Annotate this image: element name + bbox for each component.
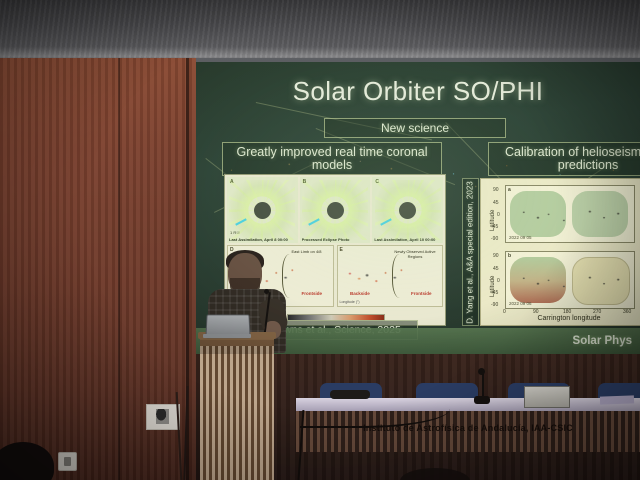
panel-id: a bbox=[508, 187, 511, 193]
active-region-spots bbox=[512, 264, 630, 298]
new-science-box: New science bbox=[324, 118, 506, 138]
table-laptop[interactable] bbox=[524, 386, 570, 408]
scale-bar-label: 1 R☉ bbox=[230, 230, 240, 235]
active-region-spots bbox=[512, 198, 630, 232]
right-citation-text: D. Yang et al., A&A special edition, 202… bbox=[466, 181, 475, 323]
podium-microphone-icon bbox=[264, 289, 269, 294]
panel-caption: Last Assimilation, April 10 00:00 bbox=[374, 237, 441, 242]
panel-id: B bbox=[303, 179, 307, 185]
magnetogram-panel: E Newly Observed Active Regions Backside… bbox=[337, 245, 444, 307]
right-heading-box: Calibration of helioseismology predictio… bbox=[488, 142, 640, 176]
panel-id: E bbox=[340, 247, 343, 253]
y-tick: 45 bbox=[493, 200, 499, 206]
frontside-label: Frontside bbox=[302, 291, 323, 296]
panel-caption: Last Assimilation, April 8 00:00 bbox=[229, 237, 296, 242]
right-citation: D. Yang et al., A&A special edition, 202… bbox=[462, 178, 479, 326]
microphone-icon bbox=[478, 368, 485, 375]
slide-title: Solar Orbiter SO/PHI bbox=[196, 76, 640, 107]
y-tick: 90 bbox=[493, 253, 499, 259]
y-tick: -90 bbox=[491, 302, 498, 308]
y-tick: 0 bbox=[497, 212, 500, 218]
x-axis-label: Longitude (°) bbox=[340, 300, 360, 304]
switch-rocker-icon bbox=[64, 457, 71, 466]
y-tick: 45 bbox=[493, 266, 499, 272]
wall-panel-seam bbox=[118, 58, 120, 480]
date-stamp: 2022 09 05 bbox=[509, 235, 532, 240]
backside-label: Backside bbox=[350, 291, 370, 296]
y-axis-label: Latitude bbox=[490, 210, 496, 231]
y-tick: 0 bbox=[497, 278, 500, 284]
ceiling bbox=[0, 0, 640, 60]
solar-disk-icon bbox=[399, 202, 416, 219]
eclipse-panel-row: A 1 R☉ Last Assimilation, April 8 00:00 … bbox=[227, 177, 443, 243]
solar-disk-icon bbox=[327, 202, 344, 219]
carrington-map-panel-b: b 2022 09 06 bbox=[505, 251, 635, 309]
eclipse-panel: B Processed Eclipse Photo bbox=[300, 177, 371, 243]
helioseismology-figure: a 2022 09 05 90 45 0 -45 -90 Latitude b … bbox=[480, 178, 640, 326]
wall-light-switch[interactable] bbox=[58, 452, 77, 471]
presenter-laptop-base[interactable] bbox=[203, 334, 251, 338]
conference-photo-scene: Solar Orbiter SO/PHI New science Greatly… bbox=[0, 0, 640, 480]
eclipse-panel: A 1 R☉ Last Assimilation, April 8 00:00 bbox=[227, 177, 298, 243]
carrington-map-panel-a: a 2022 09 05 bbox=[505, 185, 635, 243]
panel-id: C bbox=[375, 179, 379, 185]
left-heading-box: Greatly improved real time coronal model… bbox=[222, 142, 442, 176]
y-tick: 90 bbox=[493, 187, 499, 193]
microphone-base bbox=[474, 396, 490, 404]
solar-disk-icon bbox=[254, 202, 271, 219]
y-axis-label: Latitude bbox=[490, 276, 496, 297]
x-axis-label: Carrington longitude bbox=[481, 315, 640, 322]
slide-footer-right-text: Solar Phys bbox=[573, 335, 632, 347]
table-papers bbox=[600, 395, 634, 404]
panel-annotation: East Limb on 4/8 bbox=[285, 249, 329, 254]
limb-curve bbox=[392, 254, 407, 298]
y-tick: -90 bbox=[491, 236, 498, 242]
panel-id: b bbox=[508, 253, 511, 259]
sign-pictogram-icon bbox=[156, 409, 169, 424]
panel-caption: Processed Eclipse Photo bbox=[302, 237, 369, 242]
eclipse-panel: C Last Assimilation, April 10 00:00 bbox=[372, 177, 443, 243]
podium bbox=[200, 337, 274, 480]
panel-id: A bbox=[230, 179, 234, 185]
frontside-label: Frontside bbox=[411, 291, 432, 296]
wall-notice-sign bbox=[146, 404, 180, 430]
date-stamp: 2022 09 06 bbox=[509, 301, 532, 306]
